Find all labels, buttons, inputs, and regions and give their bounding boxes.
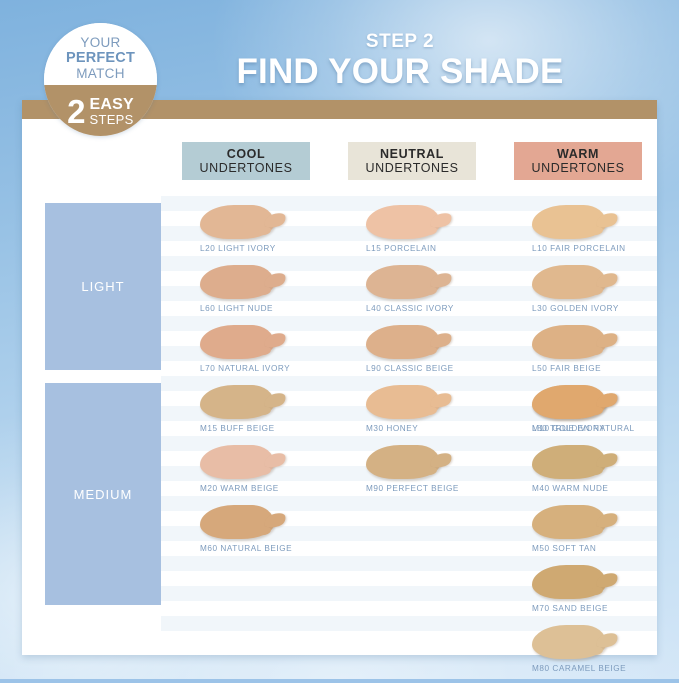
shade-swatch	[366, 203, 462, 241]
shade-name-label: M80 CARAMEL BEIGE	[532, 664, 626, 673]
swatch-dot-shape	[589, 526, 603, 537]
shade-cell[interactable]: L70 NATURAL IVORY	[182, 323, 348, 383]
shade-cell[interactable]: M50 SOFT TAN	[514, 503, 679, 563]
badge-line-match: MATCH	[44, 66, 157, 81]
infographic-page: STEP 2 FIND YOUR SHADE COOL UNDERTONES N…	[0, 0, 679, 679]
shade-name-label: L40 CLASSIC IVORY	[366, 304, 454, 313]
category-label-light: LIGHT	[81, 279, 124, 294]
column-header-cool-subtitle: UNDERTONES	[199, 161, 292, 175]
shade-chart-card: COOL UNDERTONES NEUTRAL UNDERTONES WARM …	[22, 100, 657, 655]
shade-cell[interactable]: M10 GOLDEN NATURAL	[514, 383, 679, 443]
shade-swatch	[532, 203, 628, 241]
shade-swatch	[532, 623, 628, 661]
swatch-dot-shape	[257, 526, 271, 537]
swatch-dot-shape	[423, 226, 437, 237]
shade-cell[interactable]: M20 WARM BEIGE	[182, 443, 348, 503]
shade-name-label: M20 WARM BEIGE	[200, 484, 279, 493]
swatch-dot-shape	[423, 466, 437, 477]
badge-line-perfect: PERFECT	[44, 50, 157, 66]
shade-cell[interactable]: L30 GOLDEN IVORY	[514, 263, 679, 323]
shade-cell[interactable]: M15 BUFF BEIGE	[182, 383, 348, 443]
shade-cell[interactable]: L20 LIGHT IVORY	[182, 203, 348, 263]
shade-name-label: M15 BUFF BEIGE	[200, 424, 275, 433]
shade-name-label: M30 HONEY	[366, 424, 418, 433]
column-header-neutral-subtitle: UNDERTONES	[365, 161, 458, 175]
swatch-dot-shape	[257, 346, 271, 357]
shade-name-label: L60 LIGHT NUDE	[200, 304, 273, 313]
swatch-dot-shape	[589, 286, 603, 297]
page-title: FIND YOUR SHADE	[200, 52, 600, 92]
badge-line-easy: EASY	[89, 97, 133, 113]
category-label-medium: MEDIUM	[74, 487, 133, 502]
badge-line-your: YOUR	[44, 35, 157, 50]
swatch-dot-shape	[257, 226, 271, 237]
shade-name-label: L15 PORCELAIN	[366, 244, 436, 253]
shade-swatch	[532, 443, 628, 481]
shade-swatch	[366, 383, 462, 421]
shade-name-label: L20 LIGHT IVORY	[200, 244, 276, 253]
shade-name-label: M10 GOLDEN NATURAL	[532, 424, 635, 433]
shade-name-label: M40 WARM NUDE	[532, 484, 608, 493]
shade-swatch	[200, 383, 296, 421]
shade-cell[interactable]: M40 WARM NUDE	[514, 443, 679, 503]
category-block-light: LIGHT	[45, 203, 161, 370]
shade-swatch	[200, 203, 296, 241]
perfect-match-badge: YOUR PERFECT MATCH 2 EASY STEPS	[44, 23, 157, 136]
swatch-dot-shape	[589, 226, 603, 237]
shade-cell[interactable]: M90 PERFECT BEIGE	[348, 443, 514, 503]
swatch-dot-shape	[589, 406, 603, 417]
swatch-dot-shape	[589, 346, 603, 357]
swatch-dot-shape	[589, 646, 603, 657]
swatch-dot-shape	[257, 286, 271, 297]
column-header-warm-subtitle: UNDERTONES	[531, 161, 624, 175]
category-block-medium: MEDIUM	[45, 383, 161, 605]
shade-swatch	[532, 503, 628, 541]
shade-name-label: L70 NATURAL IVORY	[200, 364, 290, 373]
shade-swatch	[532, 263, 628, 301]
shade-cell[interactable]: M60 NATURAL BEIGE	[182, 503, 348, 563]
shade-swatch	[532, 563, 628, 601]
badge-top-half: YOUR PERFECT MATCH	[44, 23, 157, 85]
column-header-cool: COOL UNDERTONES	[182, 142, 310, 180]
column-header-warm-title: WARM	[557, 147, 599, 161]
swatch-dot-shape	[589, 586, 603, 597]
shade-swatch	[200, 443, 296, 481]
shade-cell[interactable]: L10 FAIR PORCELAIN	[514, 203, 679, 263]
column-header-cool-title: COOL	[227, 147, 266, 161]
shade-swatch	[200, 263, 296, 301]
shade-swatch	[366, 443, 462, 481]
shade-cell[interactable]: L90 CLASSIC BEIGE	[348, 323, 514, 383]
step-label: STEP 2	[240, 31, 560, 53]
shade-swatch	[366, 263, 462, 301]
shade-swatch	[532, 383, 628, 421]
shade-swatch	[366, 323, 462, 361]
shade-name-label: M70 SAND BEIGE	[532, 604, 608, 613]
badge-bottom-half: 2 EASY STEPS	[44, 85, 157, 136]
shade-name-label: L10 FAIR PORCELAIN	[532, 244, 626, 253]
undertone-column-headers: COOL UNDERTONES NEUTRAL UNDERTONES WARM …	[22, 142, 657, 184]
shade-name-label: M60 NATURAL BEIGE	[200, 544, 292, 553]
shade-name-label: M50 SOFT TAN	[532, 544, 596, 553]
shade-cell[interactable]: M80 CARAMEL BEIGE	[514, 623, 679, 683]
shade-cell[interactable]: M30 HONEY	[348, 383, 514, 443]
shade-swatch	[200, 323, 296, 361]
swatch-dot-shape	[423, 286, 437, 297]
badge-line-steps: STEPS	[89, 113, 133, 126]
column-header-warm: WARM UNDERTONES	[514, 142, 642, 180]
column-header-neutral: NEUTRAL UNDERTONES	[348, 142, 476, 180]
shade-name-label: L90 CLASSIC BEIGE	[366, 364, 454, 373]
swatch-dot-shape	[257, 466, 271, 477]
shade-name-label: L30 GOLDEN IVORY	[532, 304, 619, 313]
shade-name-label: M90 PERFECT BEIGE	[366, 484, 459, 493]
shade-cell[interactable]: L50 FAIR BEIGE	[514, 323, 679, 383]
swatch-dot-shape	[257, 406, 271, 417]
shade-swatch	[200, 503, 296, 541]
swatch-dot-shape	[423, 346, 437, 357]
badge-step-number: 2	[67, 95, 85, 128]
shade-name-label: L50 FAIR BEIGE	[532, 364, 601, 373]
swatch-dot-shape	[589, 466, 603, 477]
column-header-neutral-title: NEUTRAL	[380, 147, 444, 161]
shade-grid: L20 LIGHT IVORYL60 LIGHT NUDEL70 NATURAL…	[161, 196, 657, 620]
shade-swatch	[532, 323, 628, 361]
shade-cell[interactable]: L40 CLASSIC IVORY	[348, 263, 514, 323]
shade-cell[interactable]: L60 LIGHT NUDE	[182, 263, 348, 323]
badge-steps-stack: EASY STEPS	[89, 97, 133, 127]
shade-cell[interactable]: L15 PORCELAIN	[348, 203, 514, 263]
shade-cell[interactable]: M70 SAND BEIGE	[514, 563, 679, 623]
swatch-dot-shape	[423, 406, 437, 417]
